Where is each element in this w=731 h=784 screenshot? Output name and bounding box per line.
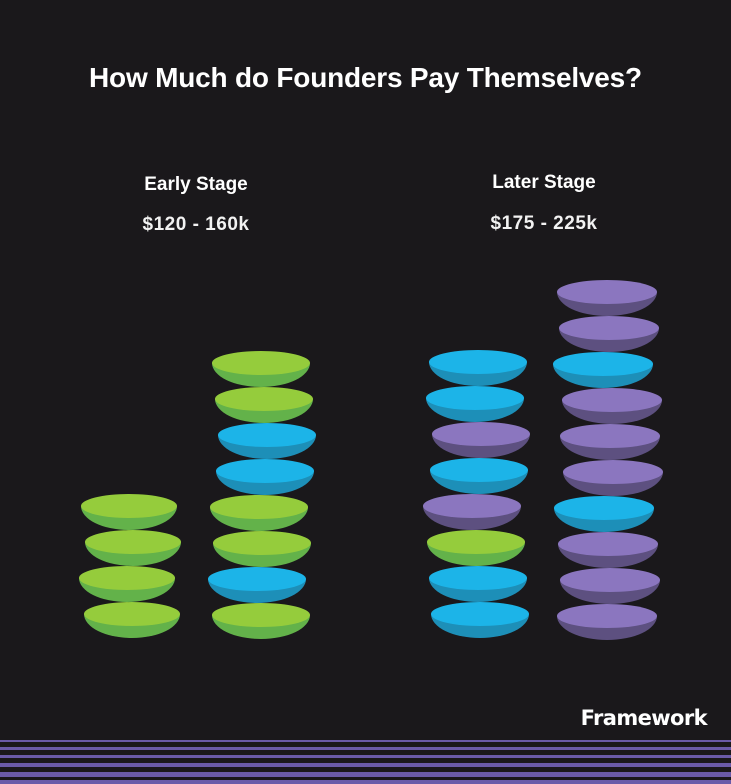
stripe-4 [0, 763, 731, 767]
coin-stack-later-low [429, 350, 527, 638]
coin-stack-later-high [557, 280, 657, 640]
stripe-2 [0, 747, 731, 750]
coin-stack-early-high [212, 351, 310, 639]
coin-top [557, 280, 657, 304]
coin-blue [429, 350, 527, 398]
group-range-later: $175 - 225k [444, 213, 644, 235]
coin-purple [557, 280, 657, 328]
coin-top [81, 494, 177, 518]
coin-green [81, 494, 177, 542]
bottom-stripe-decoration [0, 738, 731, 784]
framework-logo: Framework [581, 706, 707, 730]
stripe-1 [0, 740, 731, 742]
page-title: How Much do Founders Pay Themselves? [0, 62, 731, 94]
group-range-early: $120 - 160k [96, 214, 296, 236]
stripe-5 [0, 772, 731, 777]
group-label-early: Early Stage [96, 174, 296, 196]
coin-stack-early-low [81, 494, 177, 638]
coin-top [212, 351, 310, 375]
coin-green [212, 351, 310, 399]
stripe-6 [0, 780, 731, 784]
infographic-canvas: How Much do Founders Pay Themselves? Ear… [0, 0, 731, 784]
coin-top [429, 350, 527, 374]
group-label-later: Later Stage [444, 172, 644, 194]
stripe-3 [0, 755, 731, 758]
